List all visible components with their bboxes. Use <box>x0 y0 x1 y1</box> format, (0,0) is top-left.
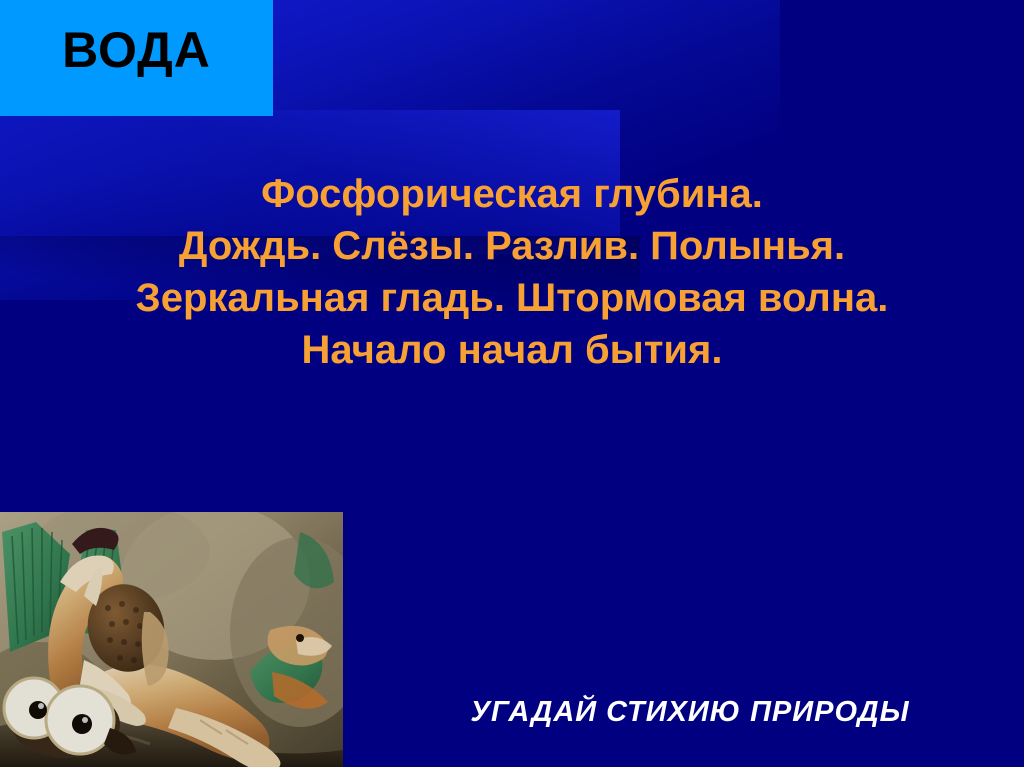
slide-caption: УГАДАЙ СТИХИЮ ПРИРОДЫ <box>380 696 1000 729</box>
scrat-squirrel-acorn-photo <box>0 512 343 767</box>
verse-line-4: Начало начал бытия. <box>0 324 1024 376</box>
verse-line-3: Зеркальная гладь. Штормовая волна. <box>0 272 1024 324</box>
verse-block: Фосфорическая глубина. Дождь. Слёзы. Раз… <box>0 168 1024 376</box>
verse-line-1: Фосфорическая глубина. <box>0 168 1024 220</box>
presentation-slide: ВОДА Фосфорическая глубина. Дождь. Слёзы… <box>0 0 1024 767</box>
title-banner: ВОДА <box>0 0 273 116</box>
verse-line-2: Дождь. Слёзы. Разлив. Полынья. <box>0 220 1024 272</box>
page-title: ВОДА <box>0 0 273 116</box>
